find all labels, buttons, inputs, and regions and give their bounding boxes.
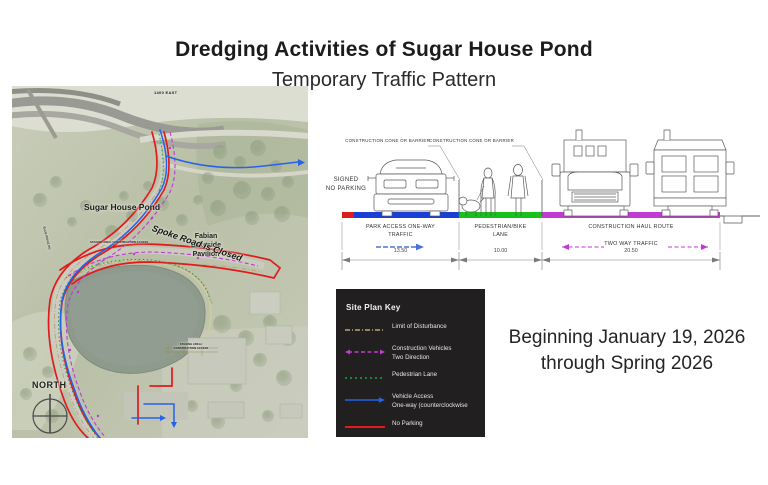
dimension-park-access: 13.50 (342, 248, 459, 254)
dimension-pedestrian-bike: 10.00 (459, 248, 542, 254)
lane-label-park-access: PARK ACCESS ONE-WAY TRAFFIC (342, 224, 459, 239)
construction-vehicles-line-icon (344, 347, 386, 357)
page-title: Dredging Activities of Sugar House Pond (0, 38, 768, 62)
dimension-haul-route: 20.50 (542, 248, 720, 254)
no-parking-segment (342, 212, 354, 218)
legend-label: Vehicle Access One-way (counterclockwise (392, 393, 485, 410)
no-parking-line-icon (344, 422, 386, 432)
vehicle-access-line-icon (344, 395, 386, 405)
legend-title: Site Plan Key (346, 303, 400, 312)
schedule-line-2: through Spring 2026 (496, 351, 758, 377)
cone-note-right: CONSTRUCTION CONE OR BARRIER (424, 138, 514, 144)
slide-canvas: Dredging Activities of Sugar House Pond … (0, 0, 768, 485)
schedule-text: Beginning January 19, 2026 through Sprin… (496, 325, 758, 377)
site-plan-key-panel: Site Plan Key Limit of Disturbance Const… (336, 289, 485, 437)
pedestrian-icon (508, 165, 528, 217)
park-access-segment (354, 212, 459, 218)
pedestrian-icon (481, 168, 495, 216)
dump-truck-front-icon (552, 130, 638, 216)
legend-label: Construction Vehicles Two Direction (392, 345, 485, 362)
schedule-line-1: Beginning January 19, 2026 (496, 325, 758, 351)
signed-no-parking-note: SIGNED NO PARKING (316, 176, 376, 193)
limit-of-disturbance-line-icon (344, 325, 386, 335)
cone-note-left: CONSTRUCTION CONE OR BARRIER (340, 138, 430, 144)
pedestrian-bike-segment (459, 212, 542, 218)
legend-label: No Parking (392, 420, 485, 429)
site-plan-map[interactable]: Sugar House Pond Fabian Lakeside Pavilio… (12, 86, 308, 438)
lane-label-pedestrian-bike: PEDESTRIAN/BIKE LANE (459, 224, 542, 239)
pedestrian-lane-line-icon (344, 373, 386, 383)
compass-rose-icon (28, 392, 72, 436)
map-aerial-imagery (12, 86, 308, 438)
roadway-cross-section: SIGNED NO PARKING CONSTRUCTION CONE OR B… (312, 128, 760, 276)
legend-label: Limit of Disturbance (392, 323, 485, 332)
lane-label-haul-route: CONSTRUCTION HAUL ROUTE (542, 224, 720, 232)
dump-truck-rear-icon (646, 130, 734, 216)
legend-label: Pedestrian Lane (392, 371, 485, 380)
car-front-icon (368, 160, 454, 216)
